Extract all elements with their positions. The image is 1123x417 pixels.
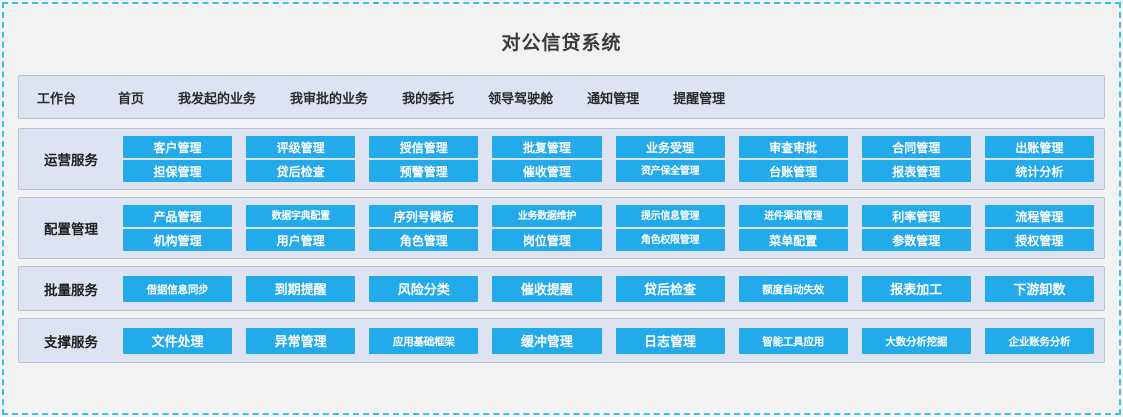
module-button[interactable]: 合同管理 [862, 136, 971, 158]
module-button[interactable]: 报表加工 [862, 276, 971, 302]
module-button[interactable]: 提示信息管理 [616, 205, 725, 227]
section-group-4: 支撑服务文件处理异常管理应用基础框架缓冲管理日志管理智能工具应用大数分析挖掘企业… [18, 318, 1105, 363]
module-button[interactable]: 用户管理 [246, 229, 355, 251]
section-label: 运营服务 [19, 149, 123, 169]
module-button[interactable]: 智能工具应用 [739, 328, 848, 354]
app-screen: 对公信贷系统 工作台首页我发起的业务我审批的业务我的委托领导驾驶舱通知管理提醒管… [0, 0, 1123, 417]
section-button-grid: 借据信息同步到期提醒风险分类催收提醒贷后检查额度自动失效报表加工下游卸数 [123, 276, 1094, 302]
module-button[interactable]: 担保管理 [123, 160, 232, 182]
module-button[interactable]: 报表管理 [862, 160, 971, 182]
nav-item-2[interactable]: 首页 [118, 88, 144, 107]
module-button[interactable]: 应用基础框架 [369, 328, 478, 354]
module-button[interactable]: 下游卸数 [985, 276, 1094, 302]
module-button[interactable]: 到期提醒 [246, 276, 355, 302]
module-button[interactable]: 数据字典配置 [246, 205, 355, 227]
module-button[interactable]: 预警管理 [369, 160, 478, 182]
nav-item-4[interactable]: 我审批的业务 [290, 88, 368, 107]
section-label: 批量服务 [19, 279, 123, 299]
module-button[interactable]: 机构管理 [123, 229, 232, 251]
module-button[interactable]: 资产保全管理 [616, 160, 725, 182]
nav-item-7[interactable]: 通知管理 [587, 88, 639, 107]
module-button[interactable]: 产品管理 [123, 205, 232, 227]
module-button[interactable]: 文件处理 [123, 328, 232, 354]
module-button[interactable]: 出账管理 [985, 136, 1094, 158]
section-group-1: 运营服务客户管理评级管理授信管理批复管理业务受理审查审批合同管理出账管理担保管理… [18, 128, 1105, 190]
module-button[interactable]: 业务受理 [616, 136, 725, 158]
nav-item-8[interactable]: 提醒管理 [673, 88, 725, 107]
module-button[interactable]: 业务数据维护 [492, 205, 601, 227]
module-button[interactable]: 大数分析挖掘 [862, 328, 971, 354]
module-button[interactable]: 进件渠道管理 [739, 205, 848, 227]
module-button[interactable]: 客户管理 [123, 136, 232, 158]
page-container: 对公信贷系统 工作台首页我发起的业务我审批的业务我的委托领导驾驶舱通知管理提醒管… [6, 6, 1117, 411]
module-button[interactable]: 评级管理 [246, 136, 355, 158]
section-label: 配置管理 [19, 218, 123, 238]
nav-item-6[interactable]: 领导驾驶舱 [488, 88, 553, 107]
nav-item-1[interactable]: 工作台 [37, 88, 76, 107]
nav-item-5[interactable]: 我的委托 [402, 88, 454, 107]
module-button[interactable]: 统计分析 [985, 160, 1094, 182]
module-button[interactable]: 参数管理 [862, 229, 971, 251]
module-button[interactable]: 角色管理 [369, 229, 478, 251]
module-button[interactable]: 日志管理 [616, 328, 725, 354]
module-button[interactable]: 额度自动失效 [739, 276, 848, 302]
section-group-3: 批量服务借据信息同步到期提醒风险分类催收提醒贷后检查额度自动失效报表加工下游卸数 [18, 266, 1105, 311]
module-button[interactable]: 流程管理 [985, 205, 1094, 227]
module-button[interactable]: 序列号模板 [369, 205, 478, 227]
module-button[interactable]: 催收管理 [492, 160, 601, 182]
module-button[interactable]: 批复管理 [492, 136, 601, 158]
module-button[interactable]: 审查审批 [739, 136, 848, 158]
module-button[interactable]: 贷后检查 [616, 276, 725, 302]
nav-item-3[interactable]: 我发起的业务 [178, 88, 256, 107]
module-sections: 运营服务客户管理评级管理授信管理批复管理业务受理审查审批合同管理出账管理担保管理… [18, 128, 1105, 403]
module-button[interactable]: 异常管理 [246, 328, 355, 354]
section-button-grid: 产品管理数据字典配置序列号模板业务数据维护提示信息管理进件渠道管理利率管理流程管… [123, 205, 1094, 251]
section-button-grid: 文件处理异常管理应用基础框架缓冲管理日志管理智能工具应用大数分析挖掘企业账务分析 [123, 328, 1094, 354]
module-button[interactable]: 菜单配置 [739, 229, 848, 251]
section-group-2: 配置管理产品管理数据字典配置序列号模板业务数据维护提示信息管理进件渠道管理利率管… [18, 197, 1105, 259]
module-button[interactable]: 催收提醒 [492, 276, 601, 302]
main-navigation-bar: 工作台首页我发起的业务我审批的业务我的委托领导驾驶舱通知管理提醒管理 [18, 75, 1105, 119]
module-button[interactable]: 缓冲管理 [492, 328, 601, 354]
section-label: 支撑服务 [19, 331, 123, 351]
page-title: 对公信贷系统 [18, 6, 1105, 75]
module-button[interactable]: 授权管理 [985, 229, 1094, 251]
module-button[interactable]: 角色权限管理 [616, 229, 725, 251]
module-button[interactable]: 借据信息同步 [123, 276, 232, 302]
module-button[interactable]: 企业账务分析 [985, 328, 1094, 354]
module-button[interactable]: 台账管理 [739, 160, 848, 182]
module-button[interactable]: 岗位管理 [492, 229, 601, 251]
module-button[interactable]: 贷后检查 [246, 160, 355, 182]
module-button[interactable]: 授信管理 [369, 136, 478, 158]
module-button[interactable]: 利率管理 [862, 205, 971, 227]
module-button[interactable]: 风险分类 [369, 276, 478, 302]
section-button-grid: 客户管理评级管理授信管理批复管理业务受理审查审批合同管理出账管理担保管理贷后检查… [123, 136, 1094, 182]
